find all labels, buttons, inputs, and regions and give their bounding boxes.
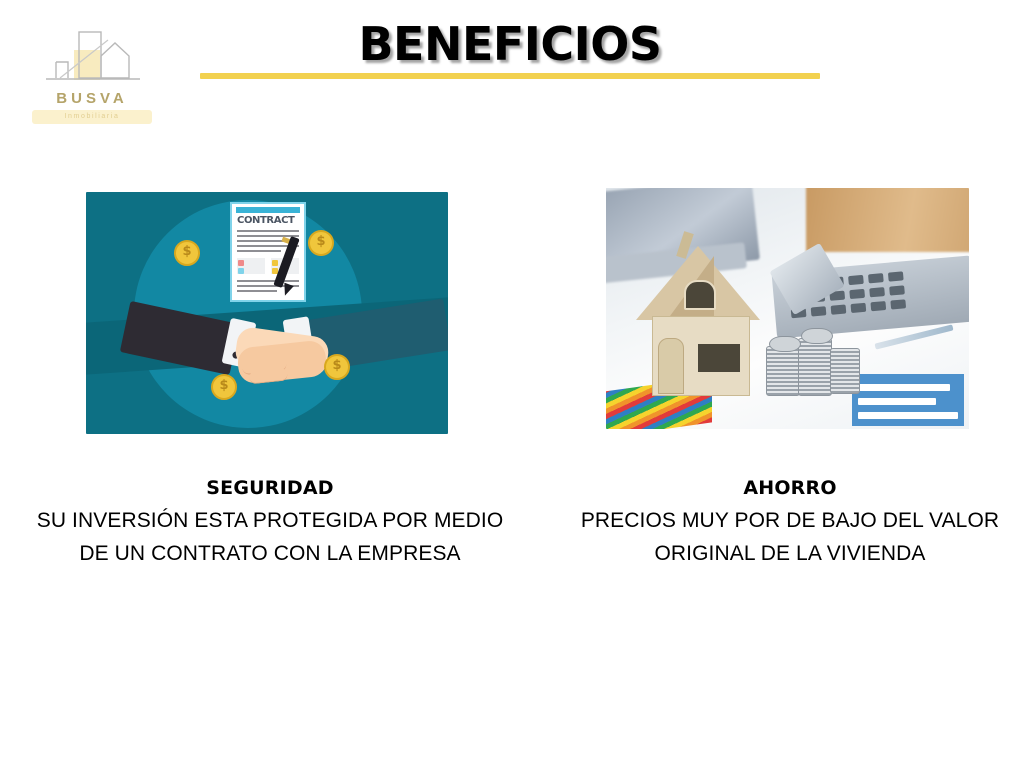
- calculator-key: [870, 301, 886, 311]
- contract-label: CONTRACT: [237, 215, 301, 226]
- dollar-coin-icon: $: [308, 230, 334, 256]
- coin-top: [801, 328, 833, 344]
- title-area: BENEFICIOS: [190, 18, 830, 88]
- coin-stack: [766, 346, 800, 396]
- desk-wood-surface: [806, 188, 969, 252]
- slide-canvas: BUSVA Inmobiliaria BENEFICIOS: [0, 0, 1024, 768]
- dollar-coin-icon: $: [324, 354, 350, 380]
- coin-stack: [830, 348, 860, 394]
- house-attic-window: [684, 280, 716, 310]
- calculator-key: [831, 305, 847, 315]
- logo-tagline: Inmobiliaria: [32, 110, 152, 124]
- document-text-line: [237, 230, 299, 232]
- calculator-key: [811, 306, 827, 316]
- caption-title: AHORRO: [560, 475, 1020, 501]
- chart-stripe: [858, 412, 958, 419]
- calculator-key: [888, 271, 904, 281]
- coin-top: [769, 336, 801, 352]
- document-header-bar: [236, 207, 300, 213]
- chart-stripe: [858, 384, 950, 391]
- document-text-line: [237, 280, 299, 282]
- field-chip: [272, 260, 278, 266]
- dollar-coin-icon: $: [174, 240, 200, 266]
- caption-seguridad: SEGURIDAD SU INVERSIÓN ESTA PROTEGIDA PO…: [30, 475, 510, 570]
- caption-title: SEGURIDAD: [30, 475, 510, 501]
- house-window: [696, 342, 742, 374]
- model-house-coins-calculator-photo: [606, 188, 969, 429]
- calculator-key: [849, 289, 865, 299]
- field-chip: [238, 260, 244, 266]
- house-building-logo-icon: [38, 30, 146, 92]
- benefit-column-seguridad: CONTRACT $ $ $ $: [57, 188, 477, 434]
- document-text-line: [237, 250, 281, 252]
- coin-stack: [798, 338, 832, 396]
- calculator-key: [848, 275, 864, 285]
- calculator-key: [851, 303, 867, 313]
- benefit-column-ahorro: [565, 188, 1010, 429]
- calculator-key: [868, 273, 884, 283]
- dollar-coin-icon: $: [211, 374, 237, 400]
- caption-body: PRECIOS MUY POR DE BAJO DEL VALOR ORIGIN…: [560, 504, 1020, 570]
- handshake-contract-illustration: CONTRACT $ $ $ $: [86, 192, 448, 434]
- calculator-key: [869, 287, 885, 297]
- field-chip: [238, 268, 244, 274]
- house-door: [658, 338, 684, 394]
- calculator-key: [890, 299, 906, 309]
- title-underline: [200, 73, 820, 79]
- chart-stripe: [858, 398, 936, 405]
- calculator-key: [889, 285, 905, 295]
- company-logo[interactable]: BUSVA Inmobiliaria: [32, 30, 152, 130]
- model-house: [640, 246, 758, 394]
- caption-body: SU INVERSIÓN ESTA PROTEGIDA POR MEDIO DE…: [30, 504, 510, 570]
- logo-company-name: BUSVA: [32, 90, 152, 107]
- page-title: BENEFICIOS: [190, 18, 830, 70]
- caption-ahorro: AHORRO PRECIOS MUY POR DE BAJO DEL VALOR…: [560, 475, 1020, 570]
- document-text-line: [237, 290, 277, 292]
